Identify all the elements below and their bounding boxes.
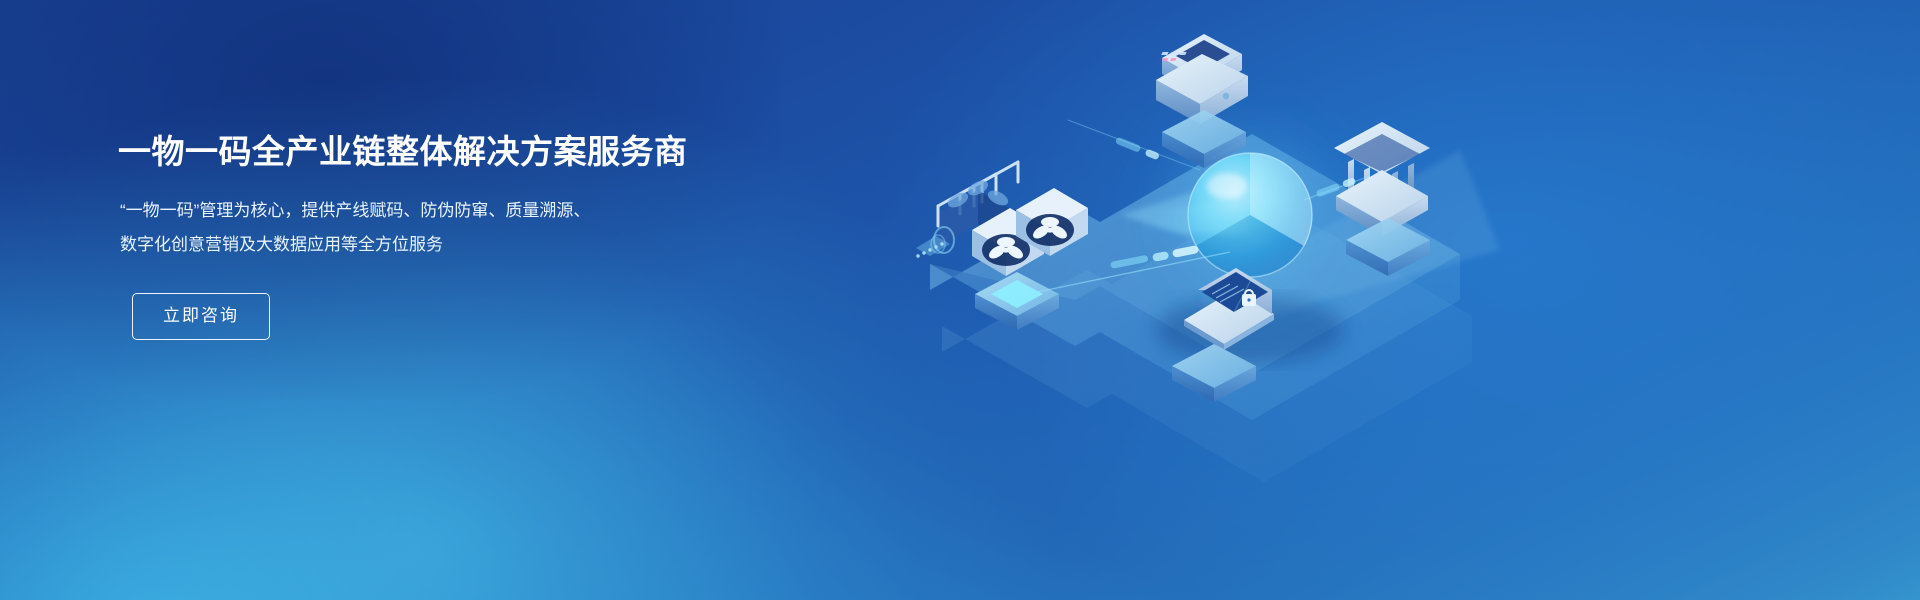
- bank-building-icon: [1334, 122, 1430, 236]
- cta-wrapper: 立即咨询: [132, 293, 878, 339]
- pedestal-pos: [1162, 110, 1246, 168]
- airflow-stream: [916, 227, 954, 258]
- pos-terminal-icon: [1156, 34, 1248, 124]
- hero-subtitle-line-2: 数字化创意营销及大数据应用等全方位服务: [120, 228, 878, 263]
- consult-now-button[interactable]: 立即咨询: [132, 293, 270, 339]
- server-fan-rack-icon: [916, 162, 1088, 276]
- fan-unit-b: [1016, 188, 1088, 256]
- page-title: 一物一码全产业链整体解决方案服务商: [118, 132, 878, 172]
- isometric-platform-group: [930, 134, 1472, 482]
- pedestal-laptop: [1172, 344, 1256, 402]
- data-stream-lines: [1018, 120, 1370, 320]
- hero-content: 一物一码全产业链整体解决方案服务商 “一物一码”管理为核心，提供产线赋码、防伪防…: [118, 132, 878, 340]
- pedestal-bank: [1346, 218, 1430, 276]
- central-glow-sphere-group: [1120, 97, 1368, 333]
- pedestal-server: [975, 272, 1059, 330]
- hero-banner: 一物一码全产业链整体解决方案服务商 “一物一码”管理为核心，提供产线赋码、防伪防…: [0, 0, 1920, 600]
- laptop-security-icon: [1184, 268, 1274, 350]
- fan-unit-a: [972, 208, 1044, 276]
- hero-subtitle-line-1: “一物一码”管理为核心，提供产线赋码、防伪防窜、质量溯源、: [120, 194, 878, 229]
- lock-glyph: [1242, 290, 1256, 306]
- isometric-iot-network-illustration: [900, 0, 1920, 600]
- hero-subtitle: “一物一码”管理为核心，提供产线赋码、防伪防窜、质量溯源、 数字化创意营销及大数…: [120, 194, 878, 264]
